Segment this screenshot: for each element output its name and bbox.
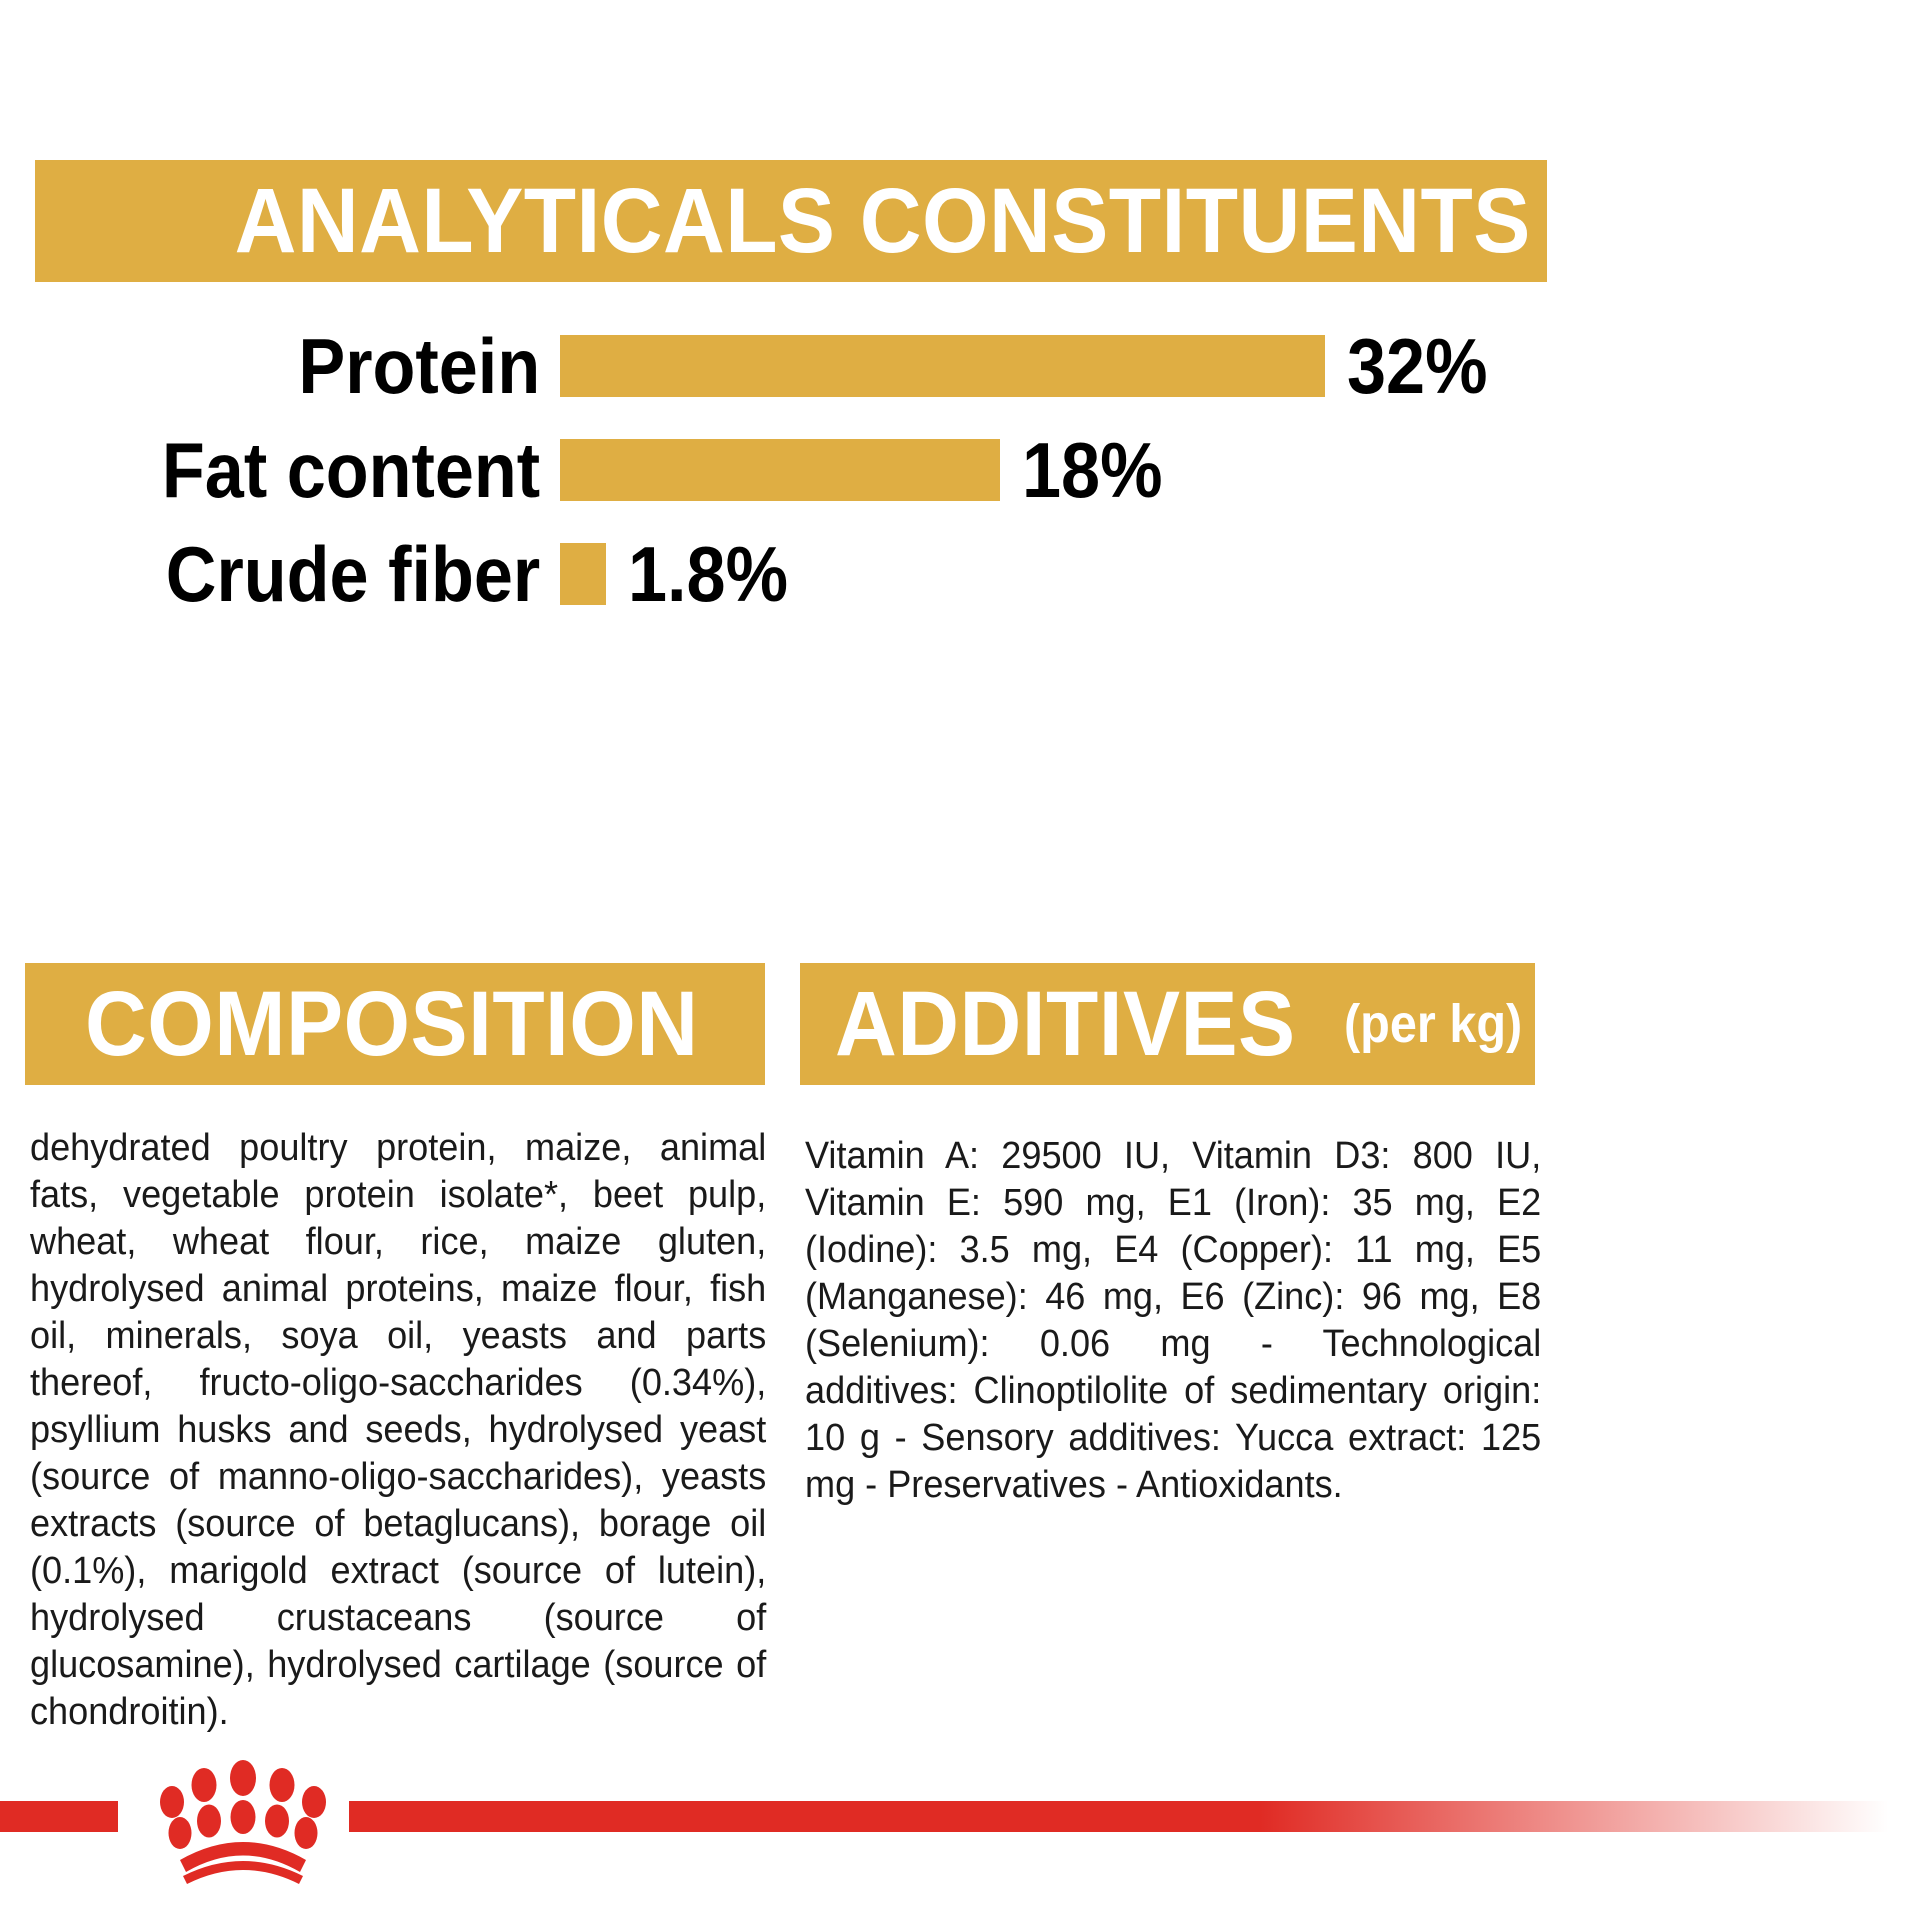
composition-body-text: dehydrated poultry protein, maize, anima… <box>30 1125 766 1736</box>
footer <box>0 1760 1920 1920</box>
chart-row-crude-fiber: Crude fiber 1.8% <box>0 528 1920 620</box>
additives-subtitle: (per kg) <box>1344 997 1522 1051</box>
chart-bar-crude-fiber <box>560 543 606 605</box>
chart-label-crude-fiber: Crude fiber <box>56 535 560 613</box>
additives-body-text: Vitamin A: 29500 IU, Vitamin D3: 800 IU,… <box>805 1133 1541 1509</box>
chart-label-protein: Protein <box>56 327 560 405</box>
chart-label-fat-content: Fat content <box>56 431 560 509</box>
footer-rule-left <box>0 1801 118 1832</box>
additives-banner: ADDITIVES (per kg) <box>800 963 1535 1085</box>
composition-title: COMPOSITION <box>85 978 699 1070</box>
royal-canin-crown-logo <box>128 1760 358 1885</box>
chart-value-fat-content: 18% <box>1022 431 1163 509</box>
chart-bar-wrap-protein: 32% <box>560 320 1503 412</box>
footer-rule-right <box>349 1801 1920 1832</box>
chart-bar-fat-content <box>560 439 1000 501</box>
chart-value-protein: 32% <box>1347 327 1488 405</box>
chart-bar-wrap-crude-fiber: 1.8% <box>560 528 806 620</box>
chart-bar-protein <box>560 335 1325 397</box>
analyticals-constituents-title: ANALYTICALS CONSTITUENTS <box>235 175 1531 267</box>
analyticals-constituents-banner: ANALYTICALS CONSTITUENTS <box>35 160 1547 282</box>
chart-row-protein: Protein 32% <box>0 320 1920 412</box>
chart-value-crude-fiber: 1.8% <box>628 535 788 613</box>
chart-bar-wrap-fat-content: 18% <box>560 424 1178 516</box>
composition-banner: COMPOSITION <box>25 963 765 1085</box>
constituents-bar-chart: Protein 32% Fat content 18% Crude fiber … <box>0 320 1920 620</box>
additives-title: ADDITIVES <box>835 978 1296 1070</box>
chart-row-fat-content: Fat content 18% <box>0 424 1920 516</box>
